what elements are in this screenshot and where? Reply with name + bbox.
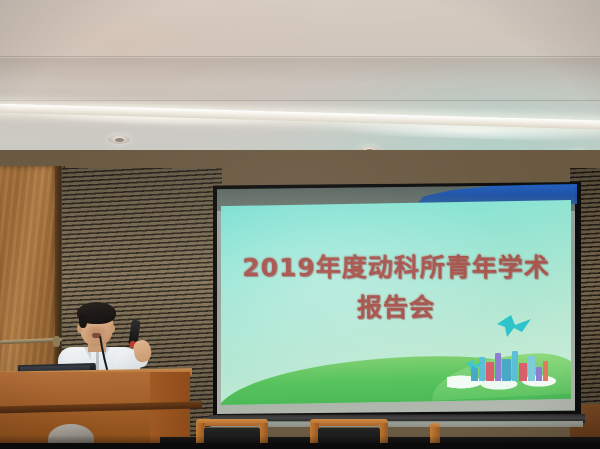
slide-title-line-2: 报告会 [221, 288, 571, 328]
city-building-3 [486, 362, 494, 381]
chair-top-rail [196, 419, 268, 426]
city-building-7 [519, 363, 527, 381]
chair-top-rail [310, 419, 388, 426]
city-building-5 [502, 359, 511, 381]
presentation-slide: 2019年度动科所青年学术 报告会 [221, 200, 571, 405]
bird-icon-small [465, 359, 483, 372]
downlight-1 [108, 135, 130, 144]
ceiling-seam [0, 56, 600, 57]
ceiling-step [0, 58, 600, 84]
city-building-4 [495, 353, 501, 381]
photo-scene: 2019年度动科所青年学术 报告会 [0, 0, 600, 449]
slide-city-skyline [471, 347, 557, 381]
city-building-6 [512, 351, 518, 381]
projection-screen: 2019年度动科所青年学术 报告会 [205, 178, 583, 426]
city-building-8 [528, 356, 535, 381]
slide-title: 2019年度动科所青年学术 报告会 [221, 248, 571, 328]
bottom-edge [0, 443, 600, 449]
presenter-hair [77, 302, 116, 324]
ear-right [110, 324, 115, 333]
city-building-10 [543, 361, 548, 381]
city-building-9 [536, 367, 542, 381]
slide-title-line-1: 2019年度动科所青年学术 [242, 253, 550, 282]
